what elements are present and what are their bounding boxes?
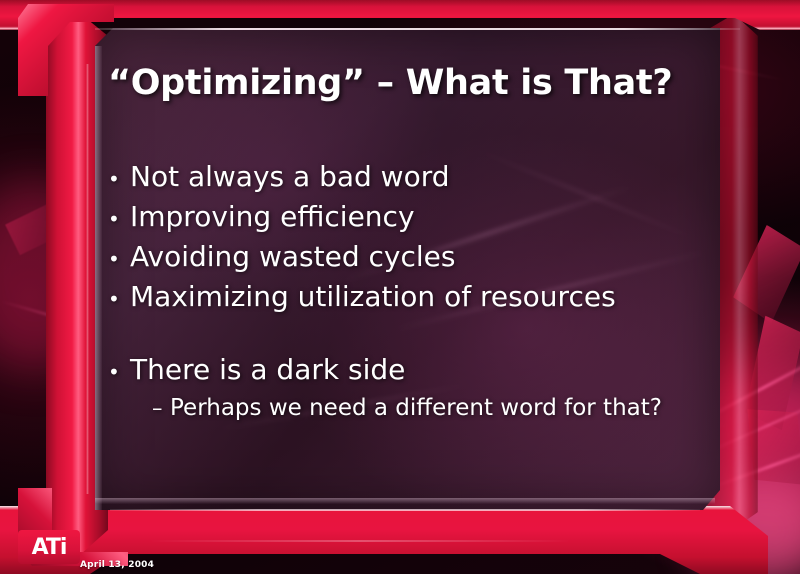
ati-logo: ATi [18,530,80,564]
bullet-spacer [108,318,718,351]
bullet-label: Avoiding wasted cycles [130,238,455,276]
presentation-slide: “Optimizing” – What is That? • Not alway… [0,0,800,574]
bullet-item: • Avoiding wasted cycles [108,238,718,278]
bullet-marker-icon: • [108,240,130,278]
bullet-label: Improving efficiency [130,198,415,236]
bullet-item: • There is a dark side [108,351,718,391]
slide-date: April 13, 2004 [80,560,154,570]
bullet-marker-icon: • [108,353,130,391]
sub-bullet-label: Perhaps we need a different word for tha… [170,391,662,425]
frame-bottom-gloss [150,540,570,542]
sub-bullet-marker-icon: – [152,391,170,425]
bullet-label: There is a dark side [130,351,405,389]
ati-logo-text: ATi [32,535,67,560]
sub-bullet-item: – Perhaps we need a different word for t… [152,391,718,425]
frame-top-hairline [95,28,740,30]
bullet-item: • Maximizing utilization of resources [108,278,718,318]
bullet-item: • Improving efficiency [108,198,718,238]
bullet-item: • Not always a bad word [108,158,718,198]
bullet-label: Not always a bad word [130,158,450,196]
panel-edge-left [95,46,102,510]
slide-title: “Optimizing” – What is That? [108,63,708,103]
bullet-marker-icon: • [108,160,130,198]
frame-bottom-hairline [110,509,700,511]
slide-body: • Not always a bad word • Improving effi… [108,158,718,425]
panel-edge-bottom [95,498,715,504]
bullet-marker-icon: • [108,280,130,318]
frame-left-gloss [86,64,89,494]
bullet-label: Maximizing utilization of resources [130,278,616,316]
bullet-marker-icon: • [108,200,130,238]
